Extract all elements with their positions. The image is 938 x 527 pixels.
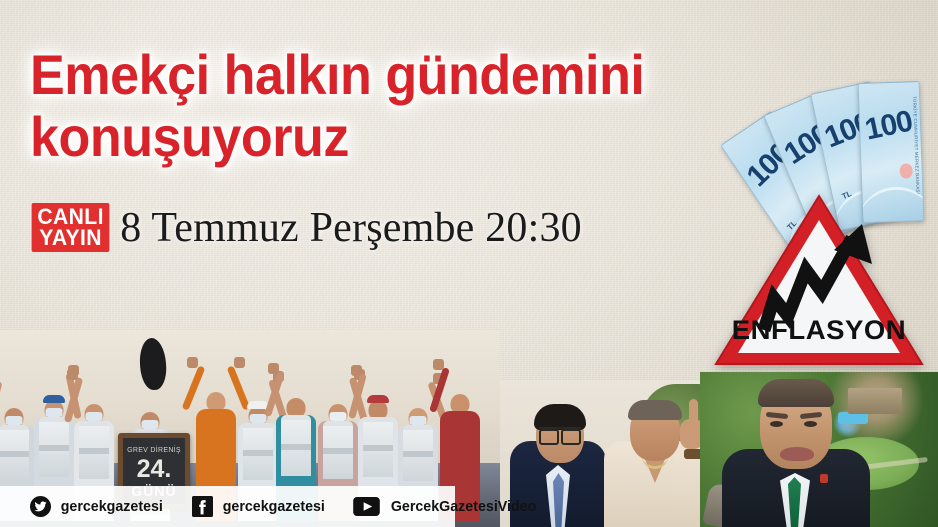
social-item-youtube[interactable]: GercekGazetesiVideo — [353, 497, 540, 516]
pointing-finger — [689, 399, 698, 425]
live-badge-line-1: CANLI — [37, 206, 103, 227]
flag-lapel-pin — [820, 474, 828, 483]
inflation-warning-sign: ENFLASYON — [712, 190, 926, 370]
mouth — [780, 447, 814, 461]
youtube-icon[interactable] — [353, 497, 380, 516]
twitter-icon[interactable] — [30, 496, 51, 517]
broadcast-datetime: 8 Temmuz Perşembe 20:30 — [120, 206, 582, 250]
headline-line-2: konuşuyoruz — [30, 106, 700, 168]
banknote-bank-name: TÜRKİYE CUMHURİYET MERKEZ BANKASI — [912, 96, 920, 194]
president-palace-photo — [700, 372, 938, 527]
social-item-twitter[interactable]: gercekgazetesi — [30, 496, 166, 517]
man-in-cream-shirt — [604, 401, 708, 527]
hair — [758, 379, 834, 407]
president-figure — [722, 377, 870, 527]
facebook-handle[interactable]: gercekgazetesi — [222, 498, 324, 515]
social-item-facebook[interactable]: gercekgazetesi — [192, 496, 328, 517]
facebook-icon[interactable] — [192, 496, 213, 517]
chalkboard-line-2: 24. — [123, 455, 185, 483]
hair — [628, 400, 682, 420]
banknote-watermark — [899, 163, 913, 178]
warning-sign-label: ENFLASYON — [710, 315, 928, 346]
live-badge-line-2: YAYIN — [37, 227, 103, 248]
broadcast-info: CANLI YAYIN 8 Temmuz Perşembe 20:30 — [30, 203, 582, 252]
eye — [770, 421, 783, 427]
eyeglasses-icon — [539, 427, 581, 439]
headline-line-1: Emekçi halkın gündemini — [30, 43, 644, 106]
live-badge: CANLI YAYIN — [32, 203, 110, 252]
banknote-value: 100 — [862, 105, 915, 148]
twitter-handle[interactable]: gercekgazetesi — [61, 498, 163, 515]
youtube-handle[interactable]: GercekGazetesiVideo — [391, 498, 536, 515]
eye — [804, 421, 817, 427]
social-media-bar: gercekgazetesi gercekgazetesi GercekGaze… — [0, 486, 455, 527]
chalkboard-line-1: GREV DİRENİŞ — [123, 447, 185, 454]
page-title: Emekçi halkın gündemini konuşuyoruz — [30, 44, 700, 168]
promo-graphic: Emekçi halkın gündemini konuşuyoruz CANL… — [0, 0, 938, 527]
